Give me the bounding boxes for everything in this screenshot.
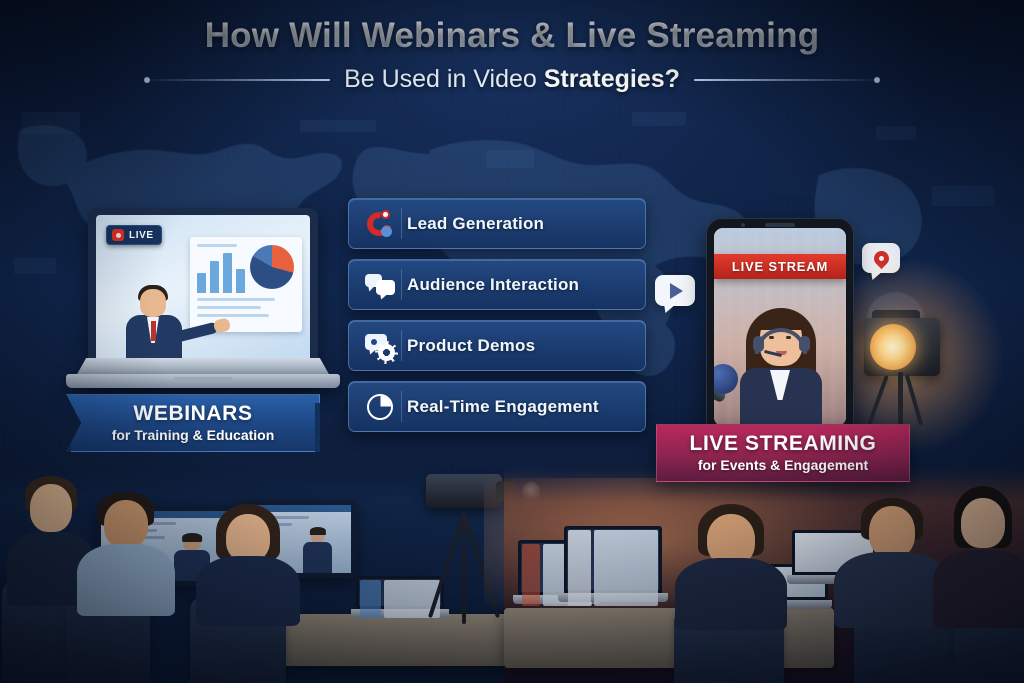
subtitle-plain: Be Used in Video — [344, 65, 544, 93]
monitor-presenter-figure — [299, 528, 336, 573]
spotlight-body — [864, 318, 940, 376]
webinars-ribbon-subtitle: for Training & Education — [112, 427, 275, 443]
divider-dot-left — [144, 77, 150, 83]
feature-real-time-engagement[interactable]: Real-Time Engagement — [348, 381, 646, 432]
subtitle-emphasis: Strategies? — [544, 65, 680, 93]
pie-clock-icon — [365, 392, 395, 422]
audience-member — [934, 486, 1024, 628]
laptop-screen: LIVE — [96, 215, 310, 373]
webinar-laptop: LIVE — [88, 208, 318, 383]
play-triangle-icon — [670, 283, 683, 299]
laptop-ui — [568, 530, 658, 593]
infographic-canvas: How Will Webinars & Live Streaming Be Us… — [0, 0, 1024, 683]
feature-label: Lead Generation — [407, 214, 544, 234]
title-block: How Will Webinars & Live Streaming Be Us… — [0, 16, 1024, 94]
live-stream-phone: LIVE STREAM — [706, 218, 854, 436]
live-stream-audience-scene — [504, 468, 1024, 683]
laptop-lid: LIVE — [88, 208, 318, 383]
feature-label: Product Demos — [407, 336, 535, 356]
live-streaming-ribbon: LIVE STREAMING for Events & Engagement — [656, 424, 910, 482]
board-text-line — [197, 306, 261, 309]
magnet-target-icon — [365, 209, 395, 239]
feature-divider — [401, 269, 402, 300]
bar-chart — [197, 253, 245, 293]
stream-host-figure — [732, 306, 828, 426]
microphone-head — [714, 364, 738, 394]
pie-chart — [250, 245, 294, 289]
board-text-line — [197, 314, 269, 317]
decor-block — [876, 126, 916, 140]
live-stream-badge: LIVE STREAM — [714, 254, 846, 279]
feature-divider — [401, 330, 402, 361]
audience-member — [676, 504, 786, 630]
spotlight-tripod-leg — [898, 372, 903, 430]
webinars-ribbon-title: WEBINARS — [133, 403, 252, 425]
decor-block — [14, 258, 56, 274]
audience-member — [196, 504, 300, 626]
feature-lead-generation[interactable]: Lead Generation — [348, 198, 646, 249]
page-title-line2: Be Used in Video Strategies? — [344, 65, 680, 94]
feature-label: Audience Interaction — [407, 275, 579, 295]
phone-speaker — [765, 223, 795, 227]
phone-screen: LIVE STREAM — [714, 228, 846, 426]
feature-list: Lead Generation Audience Interaction Pro… — [348, 198, 646, 432]
live-badge: LIVE — [106, 225, 162, 245]
subtitle-row: Be Used in Video Strategies? — [0, 65, 1024, 94]
attendee-laptop — [564, 526, 662, 610]
webinars-ribbon: WEBINARS for Training & Education — [66, 394, 320, 452]
record-dot-icon — [112, 229, 124, 241]
decor-block — [486, 150, 534, 168]
board-text-line — [197, 298, 275, 301]
divider-dot-right — [874, 77, 880, 83]
feature-divider — [401, 391, 402, 422]
spotlight-lens-icon — [870, 324, 916, 370]
studio-microphone — [714, 364, 742, 408]
studio-spotlight — [846, 300, 966, 430]
divider-right — [694, 79, 874, 81]
play-bubble-icon — [655, 275, 695, 306]
feature-product-demos[interactable]: Product Demos — [348, 320, 646, 371]
laptop-screen — [564, 526, 662, 593]
page-title-line1: How Will Webinars & Live Streaming — [0, 16, 1024, 56]
webinar-audience-scene — [0, 468, 540, 683]
tripod-leg — [462, 512, 466, 624]
phone-camera-icon — [741, 223, 745, 227]
tripod-leg — [428, 518, 464, 618]
presentation-board — [190, 237, 302, 332]
decor-block — [300, 120, 376, 132]
speech-bubbles-icon — [365, 270, 395, 300]
decor-block — [632, 112, 686, 126]
feature-audience-interaction[interactable]: Audience Interaction — [348, 259, 646, 310]
live-badge-label: LIVE — [129, 230, 154, 241]
live-streaming-ribbon-title: LIVE STREAMING — [690, 433, 877, 455]
live-streaming-ribbon-subtitle: for Events & Engagement — [698, 457, 868, 473]
divider-left — [150, 79, 330, 81]
bubble-gear-icon — [365, 331, 395, 361]
laptop-base — [66, 374, 340, 388]
decor-block — [22, 112, 80, 134]
audience-member — [78, 492, 174, 616]
feature-label: Real-Time Engagement — [407, 397, 599, 417]
feature-divider — [401, 208, 402, 239]
board-text-line — [197, 244, 237, 247]
decor-block — [932, 186, 994, 206]
